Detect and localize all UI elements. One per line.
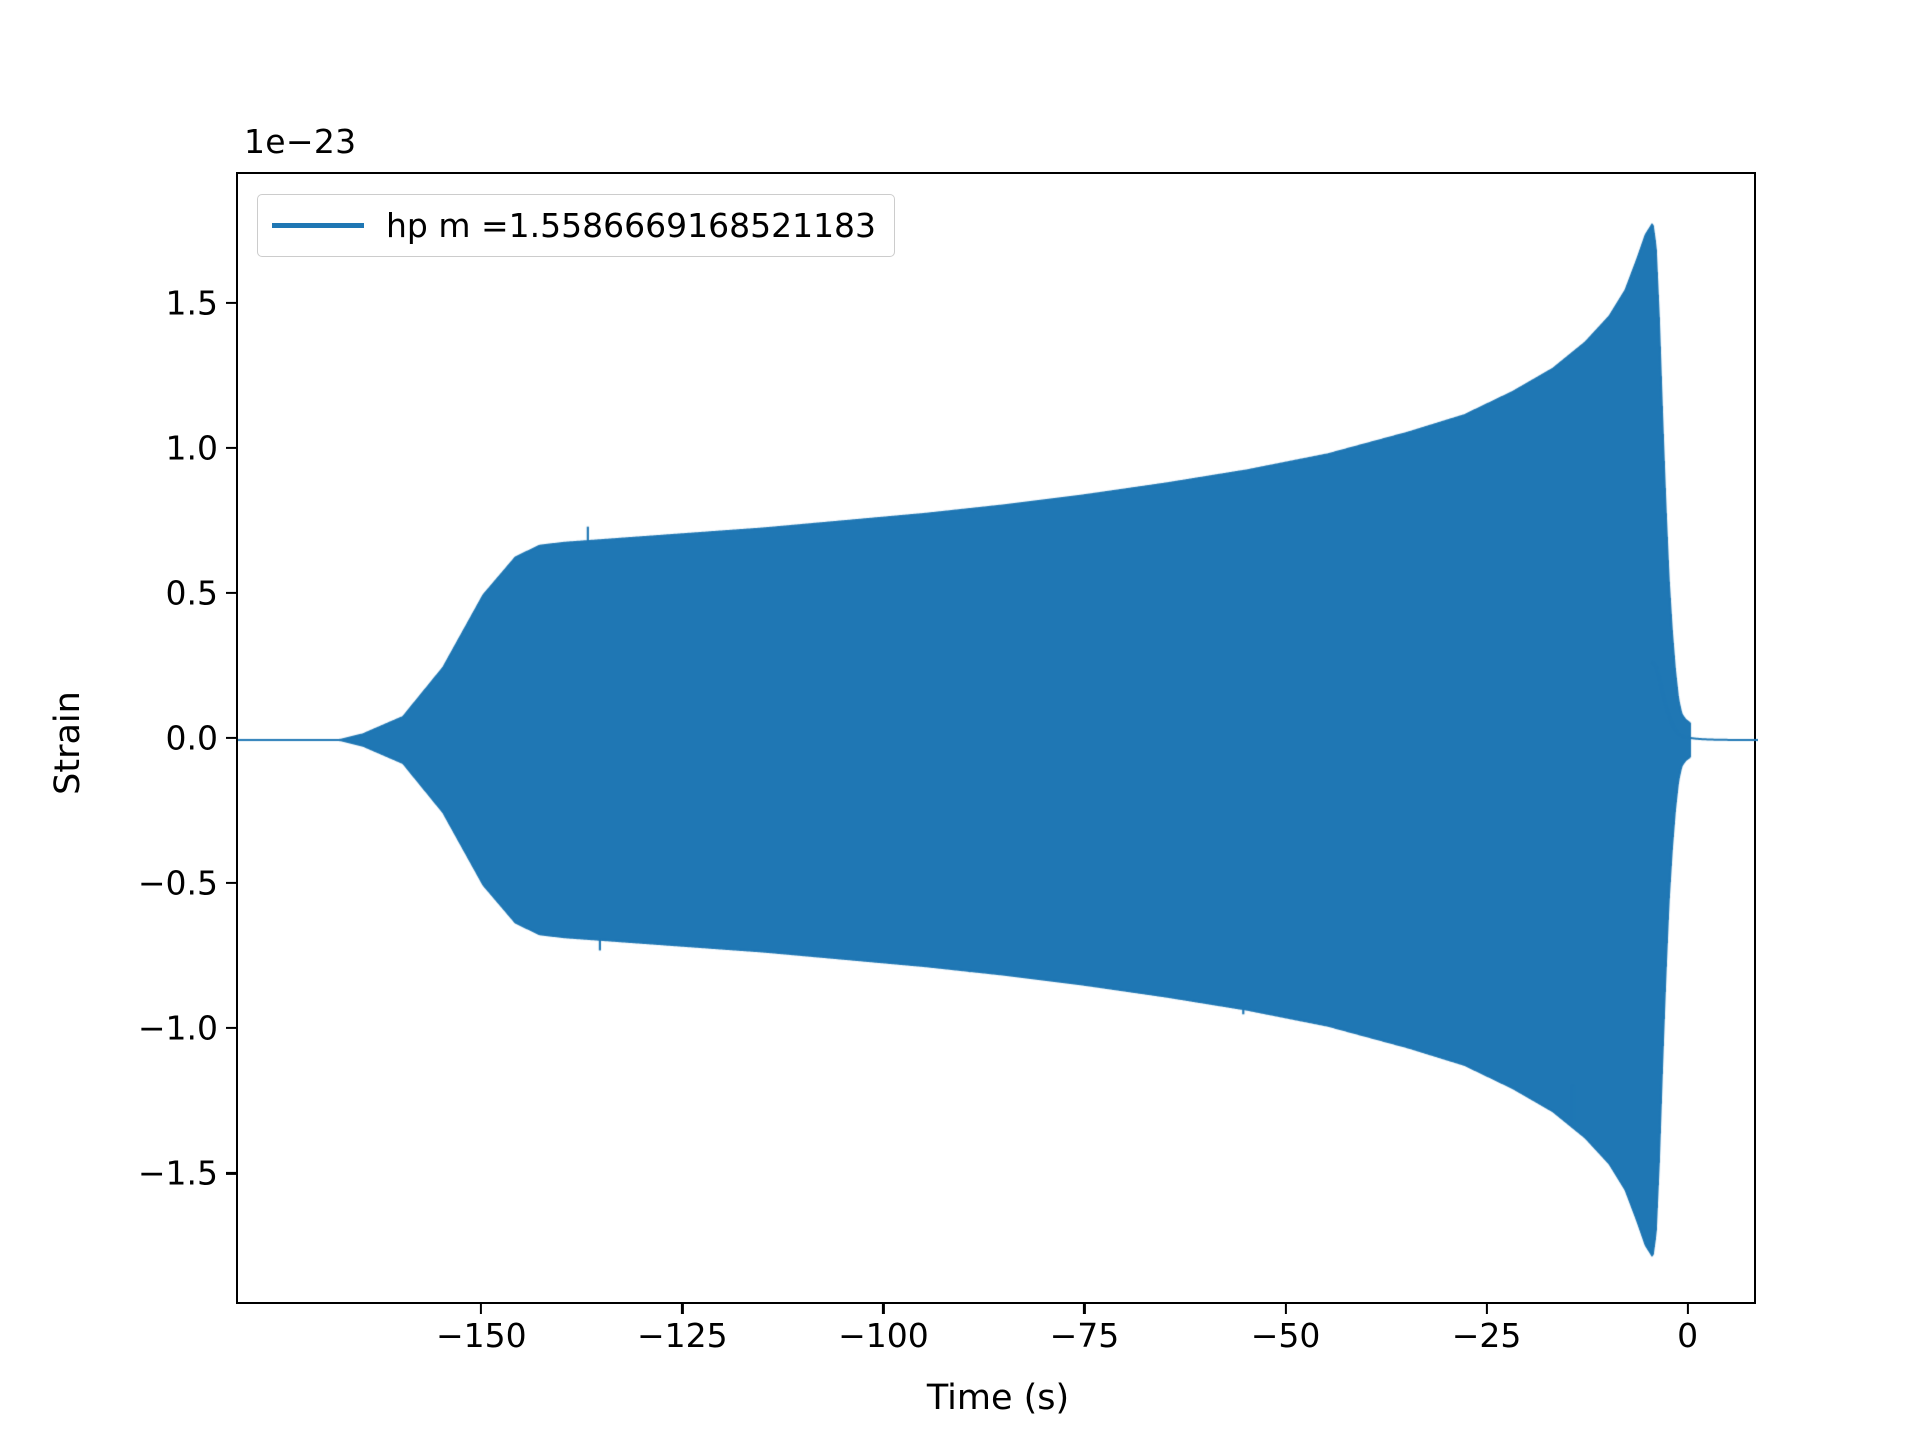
y-tick-mark	[226, 592, 236, 594]
x-axis-label: Time (s)	[0, 1378, 1920, 1418]
x-tick-label: −125	[637, 1316, 728, 1355]
x-tick-mark	[1284, 1304, 1286, 1314]
y-axis-offset-text: 1e−23	[244, 122, 356, 161]
x-tick-mark	[1083, 1304, 1085, 1314]
x-tick-label: −75	[1050, 1316, 1120, 1355]
plot-axes	[236, 172, 1756, 1304]
y-axis-label: Strain	[48, 177, 88, 1309]
x-tick-mark	[882, 1304, 884, 1314]
legend-entry-label: hp m =1.5586669168521183	[386, 206, 876, 245]
y-tick-mark	[226, 1172, 236, 1174]
x-tick-mark	[1485, 1304, 1487, 1314]
y-tick-mark	[226, 737, 236, 739]
x-tick-mark	[681, 1304, 683, 1314]
x-tick-label: −150	[436, 1316, 527, 1355]
y-tick-mark	[226, 302, 236, 304]
x-tick-label: −50	[1251, 1316, 1321, 1355]
y-tick-mark	[226, 1027, 236, 1029]
legend-line-swatch	[272, 223, 364, 228]
legend[interactable]: hp m =1.5586669168521183	[257, 194, 895, 257]
figure-canvas: 1e−23 hp m =1.5586669168521183 1.51.00.5…	[0, 0, 1920, 1440]
waveform-plot	[238, 174, 1758, 1306]
x-tick-label: −100	[838, 1316, 929, 1355]
y-tick-mark	[226, 447, 236, 449]
x-tick-label: 0	[1677, 1316, 1698, 1355]
x-tick-mark	[480, 1304, 482, 1314]
x-tick-label: −25	[1452, 1316, 1522, 1355]
y-tick-mark	[226, 882, 236, 884]
x-tick-mark	[1687, 1304, 1689, 1314]
